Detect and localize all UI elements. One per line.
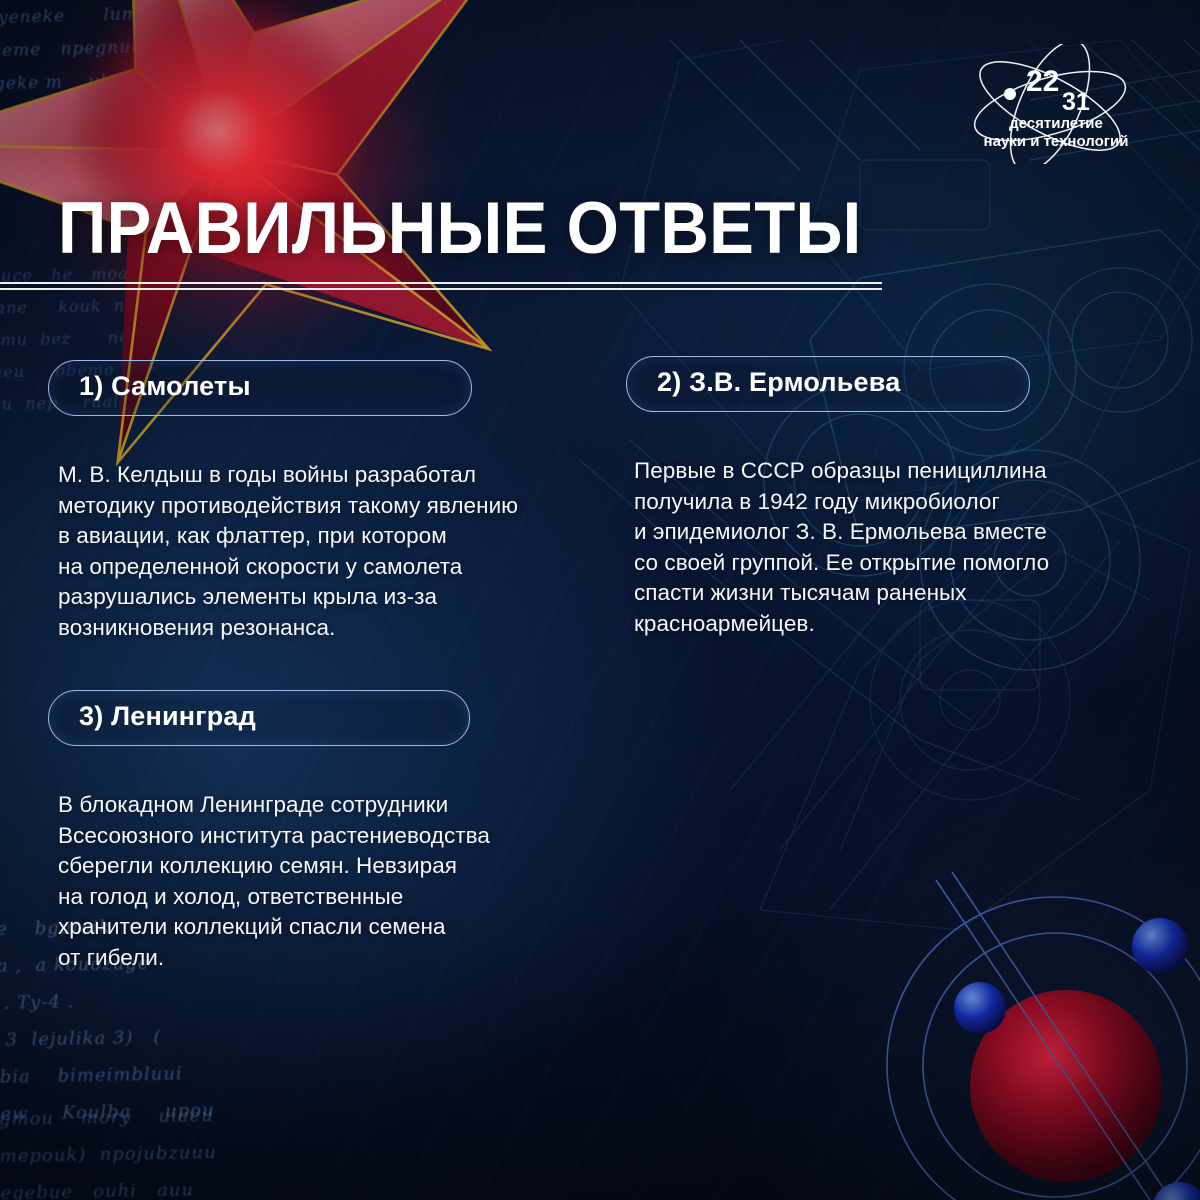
divider-line-bottom [0, 288, 882, 290]
answer-card-3: 3) Ленинград В блокадном Ленинграде сотр… [48, 690, 578, 973]
logo-year-start: 22 [1026, 65, 1059, 98]
title-divider-rules [0, 282, 882, 294]
answer-2-body-text: Первые в СССР образцы пенициллина получи… [634, 456, 1166, 639]
logo-line-1: десятилетие [1009, 115, 1103, 132]
answer-1-label-pill[interactable]: 1) Самолеты [48, 360, 472, 416]
page-title: ПРАВИЛЬНЫЕ ОТВЕТЫ [58, 194, 862, 264]
divider-line-top [0, 282, 882, 284]
answer-2-label-pill[interactable]: 2) З.В. Ермольева [626, 356, 1030, 412]
poster-canvas: c yeneke lumee bezeme npegnume — nugeke … [0, 0, 1200, 1200]
logo-year-end: 31 [1062, 88, 1090, 116]
logo-line-2: науки и технологий [984, 133, 1129, 150]
answer-card-2: 2) З.В. Ермольева Первые в СССР образцы … [626, 356, 1166, 639]
logo-electron-dot [1004, 88, 1016, 100]
answer-1-body-text: М. В. Келдыш в годы войны разработал мет… [58, 460, 578, 643]
answer-3-label-pill[interactable]: 3) Ленинград [48, 690, 470, 746]
answer-3-body-text: В блокадном Ленинграде сотрудники Всесою… [58, 790, 578, 973]
answer-card-1: 1) Самолеты М. В. Келдыш в годы войны ра… [48, 360, 578, 643]
decade-of-science-logo: 22 31 десятилетие науки и технологий [958, 44, 1154, 164]
